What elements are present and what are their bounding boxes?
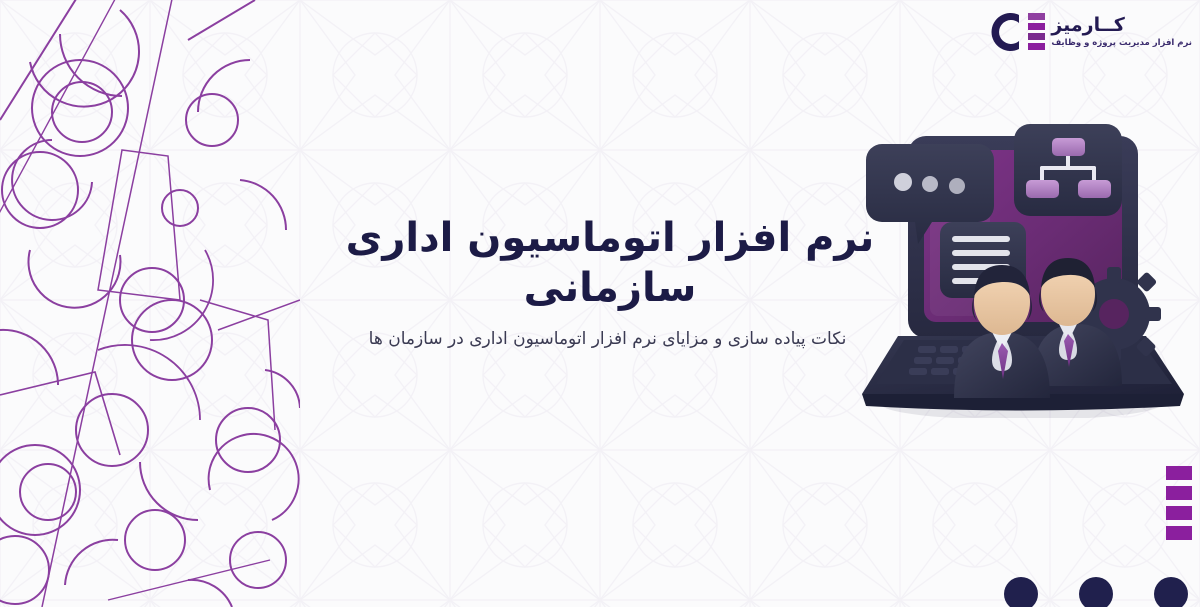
logo-tagline: نرم افزار مدیریت پروژه و وظایف bbox=[1051, 39, 1192, 48]
banner-canvas: کــارمیز نرم افزار مدیریت پروژه و وظایف … bbox=[0, 0, 1200, 607]
logo-bars-icon bbox=[1028, 13, 1045, 50]
logo-mark bbox=[991, 9, 1045, 55]
logo-brand-name: کــارمیز bbox=[1051, 16, 1124, 35]
logo-c-icon bbox=[991, 11, 1021, 53]
corner-bars-decoration bbox=[1166, 466, 1192, 540]
corner-dots-decoration bbox=[1004, 577, 1188, 607]
logo-text-block: کــارمیز نرم افزار مدیریت پروژه و وظایف bbox=[1051, 16, 1192, 48]
brand-logo[interactable]: کــارمیز نرم افزار مدیریت پروژه و وظایف bbox=[991, 6, 1192, 58]
org-chart-card bbox=[1014, 124, 1122, 216]
office-automation-illustration bbox=[846, 118, 1186, 418]
